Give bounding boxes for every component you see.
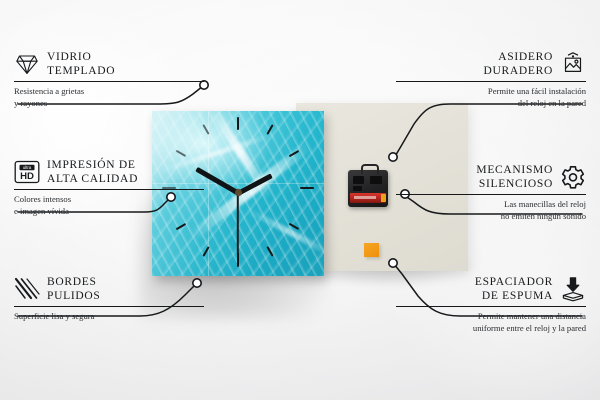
feature-desc-line1: Colores intensos	[14, 194, 71, 204]
feature-title: MECANISMO SILENCIOSO	[476, 163, 553, 191]
feature-impresion-alta-calidad: ultra HD IMPRESIÓN DE ALTA CALIDAD Color…	[14, 158, 204, 218]
feature-divider	[396, 81, 586, 82]
feature-asidero-duradero: ASIDERO DURADERO Permite una fácil insta…	[396, 50, 586, 110]
clock-center-cap	[235, 189, 242, 196]
feature-title: ASIDERO DURADERO	[484, 50, 554, 78]
feature-vidrio-templado: VIDRIO TEMPLADO Resistencia a grietas y …	[14, 50, 204, 110]
ultra-hd-icon: ultra HD	[14, 159, 40, 185]
foam-spacer-icon	[560, 276, 586, 302]
feature-espaciador-espuma: ESPACIADOR DE ESPUMA Permite mantener un…	[396, 275, 586, 335]
feature-description: Permite mantener una distancia uniforme …	[396, 311, 586, 334]
clock-second-hand	[237, 193, 239, 253]
battery-label	[354, 196, 376, 199]
feature-divider	[14, 189, 204, 190]
feature-title-line2: SILENCIOSO	[479, 178, 553, 190]
feature-description: Las manecillas del reloj no emiten ningú…	[396, 199, 586, 222]
feature-desc-line1: Permite una fácil instalación	[488, 86, 586, 96]
gear-icon	[560, 164, 586, 190]
feature-header: ESPACIADOR DE ESPUMA	[396, 275, 586, 303]
feature-title-line2: DE ESPUMA	[482, 290, 553, 302]
feature-desc-line2: uniforme entre el reloj y la pared	[473, 323, 586, 333]
feature-divider	[396, 306, 586, 307]
feature-desc-line1: Permite mantener una distancia	[478, 311, 586, 321]
feature-title-line1: VIDRIO	[47, 51, 91, 63]
feature-header: ASIDERO DURADERO	[396, 50, 586, 78]
svg-text:ultra: ultra	[23, 165, 32, 170]
feature-description: Superficie lisa y segura	[14, 311, 204, 323]
feature-header: VIDRIO TEMPLADO	[14, 50, 204, 78]
diamond-icon	[14, 51, 40, 77]
picture-hanger-icon	[560, 51, 586, 77]
svg-text:HD: HD	[20, 171, 34, 182]
feature-desc-line2: no emiten ningún sonido	[501, 211, 586, 221]
feature-desc-line2: del reloj en la pared	[518, 98, 586, 108]
clock-tick	[266, 246, 273, 256]
feature-description: Permite una fácil instalación del reloj …	[396, 86, 586, 109]
feature-title-line2: PULIDOS	[47, 290, 100, 302]
feature-header: ultra HD IMPRESIÓN DE ALTA CALIDAD	[14, 158, 204, 186]
feature-divider	[396, 194, 586, 195]
feature-title-line1: MECANISMO	[476, 164, 553, 176]
feature-desc-line2: y rayones	[14, 98, 47, 108]
feature-bordes-pulidos: BORDES PULIDOS Superficie lisa y segura	[14, 275, 204, 323]
polished-edges-icon	[14, 276, 40, 302]
feature-desc-line1: Superficie lisa y segura	[14, 311, 94, 321]
mechanism-detail	[370, 176, 382, 184]
feature-header: MECANISMO SILENCIOSO	[396, 163, 586, 191]
feature-title-line1: ASIDERO	[498, 51, 553, 63]
feature-divider	[14, 306, 204, 307]
battery-positive-tip	[381, 194, 386, 202]
clock-tick	[300, 187, 314, 189]
feature-mecanismo-silencioso: MECANISMO SILENCIOSO Las manecillas del …	[396, 163, 586, 223]
mechanism-hook	[361, 164, 379, 174]
clock-tick	[237, 117, 239, 130]
feature-title-line1: ESPACIADOR	[475, 276, 553, 288]
feature-title-line2: DURADERO	[484, 65, 554, 77]
feature-description: Colores intensos e imagen vívida	[14, 194, 204, 217]
mechanism-battery	[350, 193, 386, 203]
feature-description: Resistencia a grietas y rayones	[14, 86, 204, 109]
product-infographic: VIDRIO TEMPLADO Resistencia a grietas y …	[0, 0, 600, 400]
feature-title: ESPACIADOR DE ESPUMA	[475, 275, 553, 303]
feature-title-line1: BORDES	[47, 276, 97, 288]
foam-spacer-sample	[364, 243, 379, 257]
feature-header: BORDES PULIDOS	[14, 275, 204, 303]
feature-title-line1: IMPRESIÓN DE	[47, 159, 136, 171]
clock-mechanism	[348, 170, 388, 207]
feature-title-line2: TEMPLADO	[47, 65, 115, 77]
feature-title: VIDRIO TEMPLADO	[47, 50, 115, 78]
feature-desc-line1: Las manecillas del reloj	[504, 199, 586, 209]
clock-pane-seam	[208, 111, 209, 276]
feature-desc-line1: Resistencia a grietas	[14, 86, 84, 96]
feature-desc-line2: e imagen vívida	[14, 206, 69, 216]
feature-title-line2: ALTA CALIDAD	[47, 173, 138, 185]
feature-title: IMPRESIÓN DE ALTA CALIDAD	[47, 158, 138, 186]
feature-title: BORDES PULIDOS	[47, 275, 100, 303]
mechanism-detail	[353, 176, 364, 184]
feature-divider	[14, 81, 204, 82]
clock-tick	[237, 252, 239, 267]
mechanism-detail	[353, 186, 362, 191]
